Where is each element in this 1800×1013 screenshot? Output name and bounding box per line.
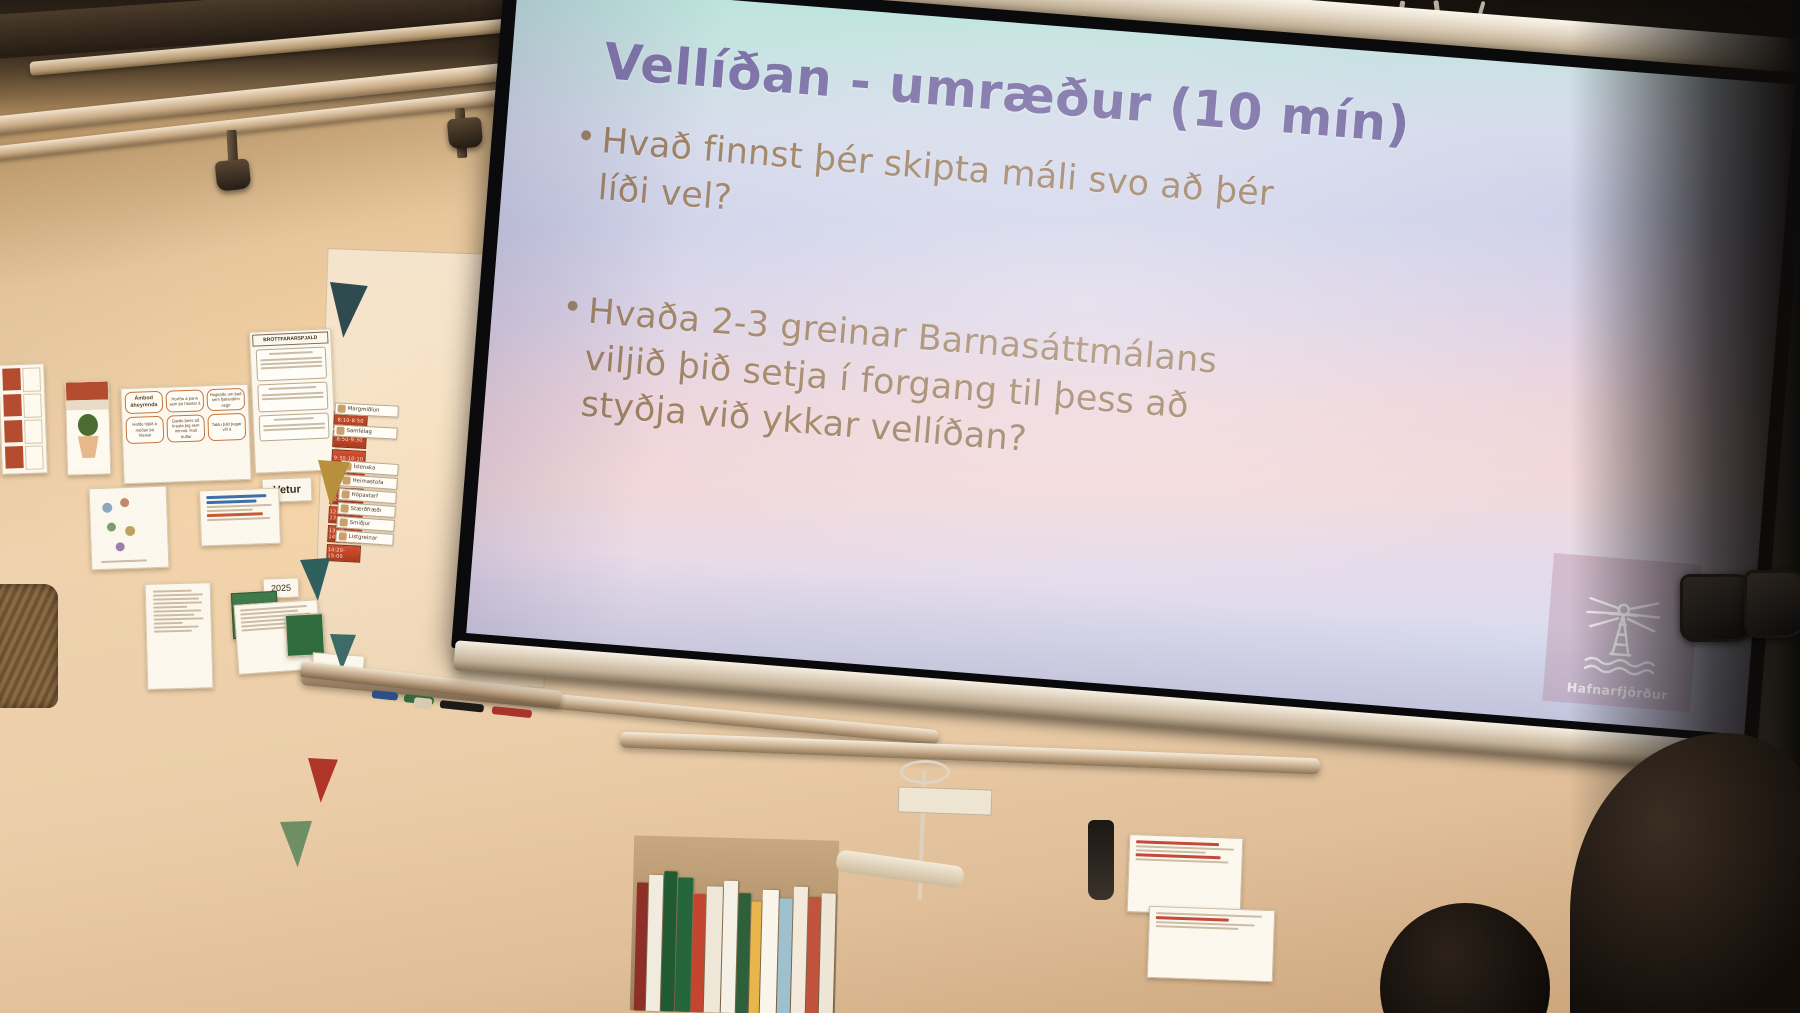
listener-card: Ámbod áheyrenda: [125, 391, 164, 414]
listener-card: Hugsaðu um það sem fjallandinn segir: [206, 388, 245, 411]
book: [760, 890, 779, 1013]
book: [819, 893, 836, 1013]
red-green-cards: [285, 613, 325, 657]
info-sheet-blue: [199, 488, 281, 547]
wall-socket: [898, 786, 993, 815]
listener-card: Horfðu á þann sem þú hlustar á: [165, 389, 204, 412]
wall-chart-right-2: [1147, 906, 1275, 982]
listener-card: Taktu þátt þegar við á: [207, 413, 246, 441]
plant-poster: [65, 380, 111, 475]
classroom-photo-scene: Ámbod áheyrenda Horfðu á þann sem þú hlu…: [0, 0, 1800, 1013]
checklist-sheet: [145, 582, 214, 690]
subject-icon: [338, 532, 347, 541]
subject-tag: Listgreinar: [335, 530, 394, 546]
attendance-chart: BROTTFARARSPJALD: [249, 328, 337, 473]
tree-diagram-sheet: [89, 486, 170, 571]
wall-basket: [0, 584, 58, 708]
listener-card: Hafðu hljóð á meðan þú hlustar: [125, 416, 164, 444]
subject-icon: [339, 518, 348, 527]
ceiling-spotlight-1: [215, 158, 252, 191]
ceiling-spotlight-2: [447, 117, 483, 150]
glasses-lens-right: [1744, 570, 1800, 638]
hanging-tassel: [1088, 820, 1114, 900]
eyeglasses: [1680, 570, 1800, 660]
subject-icon: [337, 405, 345, 413]
plant-poster-left-strip: [0, 363, 48, 475]
subject-tag: Margmiðlun: [334, 402, 399, 417]
book: [704, 886, 723, 1012]
attendance-chart-title: BROTTFARARSPJALD: [252, 331, 328, 346]
wall-chart-right: [1127, 834, 1244, 916]
listener-role-poster: Ámbod áheyrenda Horfðu á þann sem þú hlu…: [120, 384, 251, 484]
bookshelf: [630, 835, 840, 1013]
subject-icon: [336, 426, 344, 434]
schedule-time: 14:20-15:00: [326, 544, 361, 563]
eraser: [413, 697, 432, 710]
listener-card: Gættu þess að hreyfa þig sem minnst. Það…: [166, 414, 205, 442]
subject-tag-list: Margmiðlun Samfélag: [333, 402, 399, 441]
subject-tag: Samfélag: [333, 424, 398, 439]
